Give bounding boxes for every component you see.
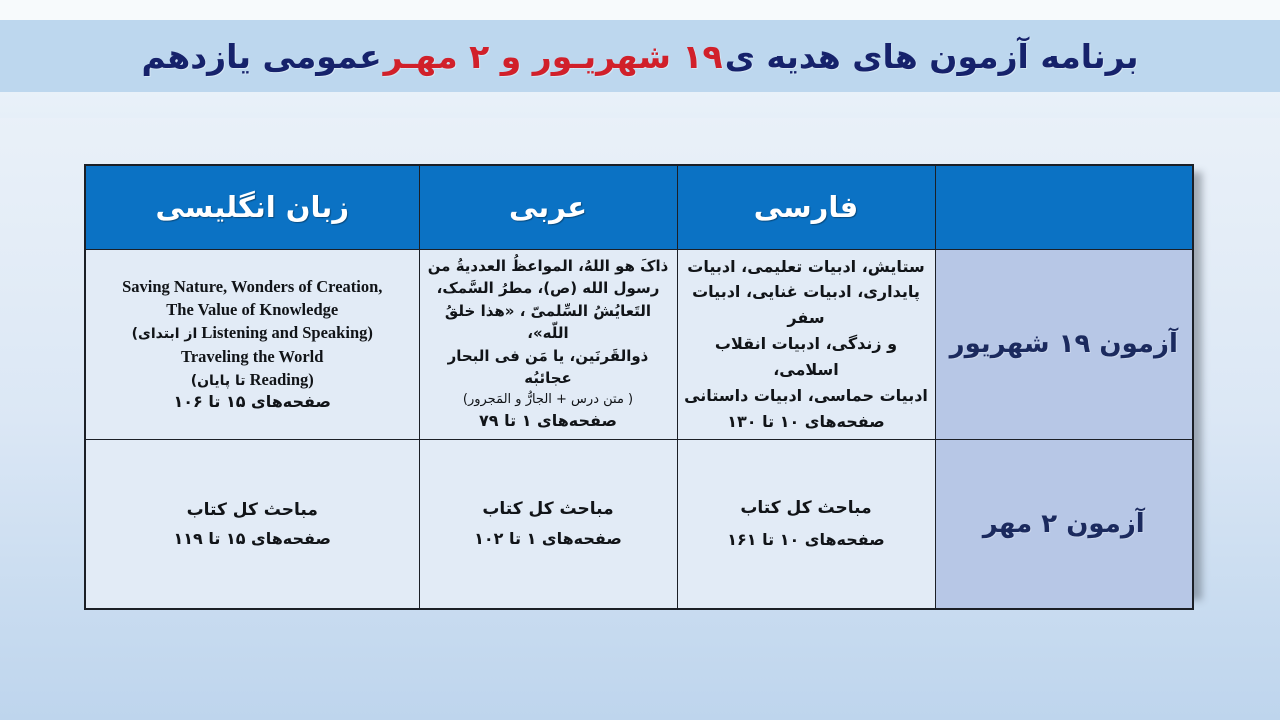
table-row: آزمون ۲ مهر مباحث کل کتاب صفحه‌های ۱۰ تا… (85, 439, 1193, 609)
cell-english-row2: مباحث کل کتاب صفحه‌های ۱۵ تا ۱۱۹ (85, 439, 419, 609)
english-line-3: Traveling the World (92, 345, 413, 368)
table-row: آزمون ۱۹ شهریور ستایش، ادبیات تعلیمی، اد… (85, 249, 1193, 439)
english-mixed-1-en: Listening and Speaking) (201, 323, 372, 342)
arabic-pages-row1: صفحه‌های ۱ تا ۷۹ (426, 409, 671, 433)
persian-line-4: ادبیات حماسی، ادبیات داستانی (684, 383, 929, 409)
english-mixed-2-en: Reading) (250, 370, 314, 389)
title-segment-3: عمومی یازدهم (140, 37, 382, 76)
persian-line-1: ستایش، ادبیات تعلیمی، ادبیات (684, 254, 929, 280)
cell-persian-row1: ستایش، ادبیات تعلیمی، ادبیات پایداری، اد… (677, 249, 935, 439)
cell-persian-row2: مباحث کل کتاب صفحه‌های ۱۰ تا ۱۶۱ (677, 439, 935, 609)
schedule-table-container: فارسی عربی زبان انگلیسی آزمون ۱۹ شهریور … (86, 164, 1194, 592)
arabic-topic-row2: مباحث کل کتاب (426, 497, 671, 523)
row-label-exam-19-shahrivar: آزمون ۱۹ شهریور (935, 249, 1193, 439)
english-mixed-1-fa: (از ابتدای (132, 326, 198, 342)
persian-topic-row2: مباحث کل کتاب (684, 495, 929, 523)
cell-english-row1: Saving Nature, Wonders of Creation, The … (85, 249, 419, 439)
english-mixed-line-1: (از ابتدای Listening and Speaking) (92, 321, 413, 345)
english-topic-row2: مباحث کل کتاب (92, 498, 413, 523)
title-segment-1: برنامه آزمون های هدیه ی (724, 37, 1140, 76)
english-mixed-line-2: (تا پایان Reading) (92, 368, 413, 392)
arabic-line-4: ذوالقَرنَین، یا مَن فی البحار عجائبُه (426, 345, 671, 390)
arabic-line-3: التَعایُشُ السِّلمیّ ، «هذا خلقُ اللّه»، (426, 300, 671, 345)
english-line-1: Saving Nature, Wonders of Creation, (92, 275, 413, 298)
column-header-english: زبان انگلیسی (85, 165, 419, 249)
english-pages-row2: صفحه‌های ۱۵ تا ۱۱۹ (92, 527, 413, 550)
title-segment-2-dates: ۱۹ شهریـور و ۲ مهـر (383, 37, 724, 76)
top-strip (0, 0, 1280, 20)
page-title: برنامه آزمون های هدیه ی ۱۹ شهریـور و ۲ م… (0, 20, 1280, 92)
schedule-table: فارسی عربی زبان انگلیسی آزمون ۱۹ شهریور … (84, 164, 1194, 610)
title-band-fade (0, 92, 1280, 118)
row-label-exam-2-mehr: آزمون ۲ مهر (935, 439, 1193, 609)
english-mixed-2-fa: (تا پایان (191, 373, 246, 389)
column-header-persian: فارسی (677, 165, 935, 249)
arabic-pages-row2: صفحه‌های ۱ تا ۱۰۲ (426, 527, 671, 551)
persian-line-3: و زندگی، ادبیات انقلاب اسلامی، (684, 331, 929, 383)
slide-canvas: برنامه آزمون های هدیه ی ۱۹ شهریـور و ۲ م… (0, 0, 1280, 720)
column-header-arabic: عربی (419, 165, 677, 249)
cell-arabic-row1: ذاکَ هو اللهُ، المواعظُ العددیةُ من رسول… (419, 249, 677, 439)
column-header-blank (935, 165, 1193, 249)
persian-pages-row1: صفحه‌های ۱۰ تا ۱۳۰ (684, 409, 929, 435)
arabic-note-row1: ( متن درس + الجارُّ و المَجرور) (426, 390, 671, 410)
table-header-row: فارسی عربی زبان انگلیسی (85, 165, 1193, 249)
cell-arabic-row2: مباحث کل کتاب صفحه‌های ۱ تا ۱۰۲ (419, 439, 677, 609)
english-line-2: The Value of Knowledge (92, 298, 413, 321)
arabic-line-1: ذاکَ هو اللهُ، المواعظُ العددیةُ من (426, 255, 671, 278)
english-pages-row1: صفحه‌های ۱۵ تا ۱۰۶ (92, 391, 413, 413)
arabic-line-2: رسول الله (ص)، مطرُ السَّمک، (426, 277, 671, 300)
persian-pages-row2: صفحه‌های ۱۰ تا ۱۶۱ (684, 527, 929, 553)
persian-line-2: پایداری، ادبیات غنایی، ادبیات سفر (684, 279, 929, 331)
